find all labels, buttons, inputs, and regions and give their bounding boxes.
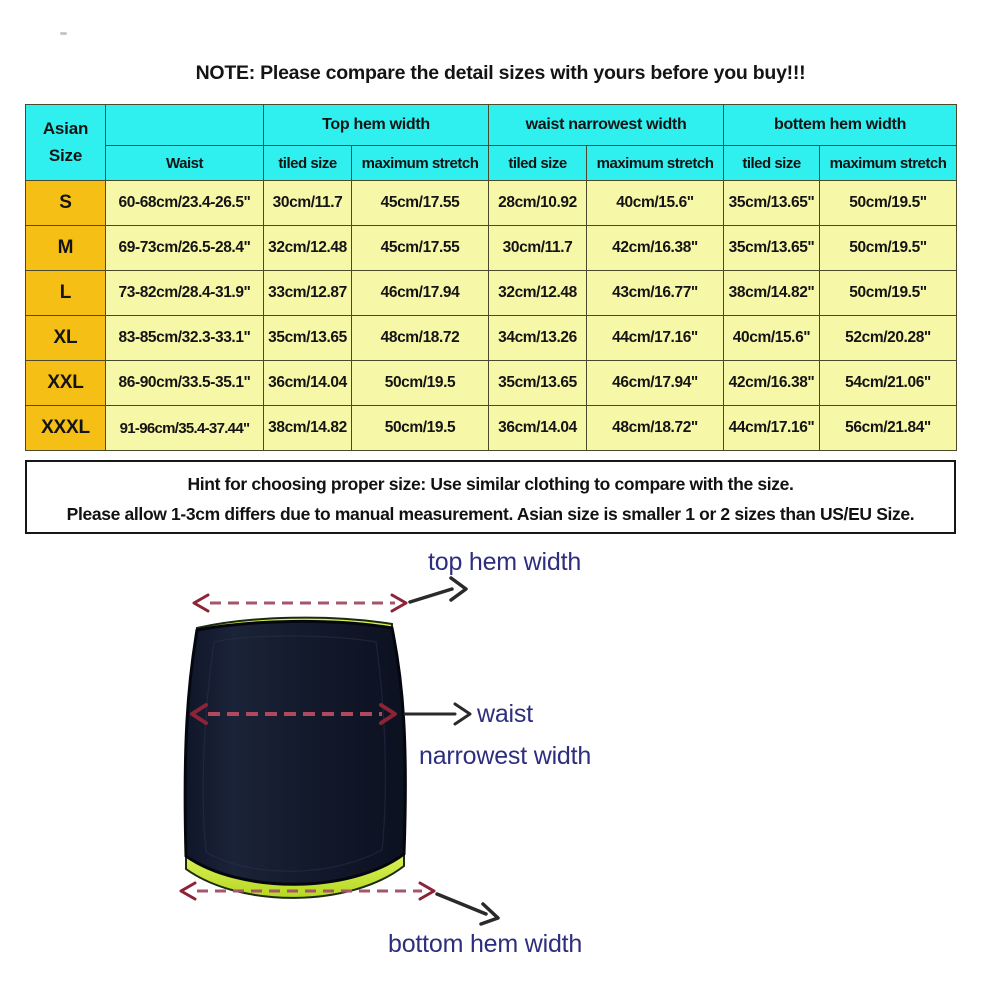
table-header-group-row: Asian Size Top hem width waist narrowest… (26, 105, 957, 146)
cell-bottom-stretch: 54cm/21.06" (820, 361, 957, 406)
cell-bottom-stretch: 50cm/19.5" (820, 226, 957, 271)
row-size-label: XXXL (26, 406, 106, 451)
cell-bottom-stretch: 56cm/21.84" (820, 406, 957, 451)
bottom-hem-right-arrowhead (420, 883, 434, 899)
cell-top-tiled: 38cm/14.82 (264, 406, 352, 451)
garment-body (185, 621, 405, 884)
bottom-hem-leader (437, 894, 498, 924)
cell-waist-stretch: 44cm/17.16" (587, 316, 724, 361)
label-top-hem-width: top hem width (428, 548, 581, 577)
cell-bottom-stretch: 50cm/19.5" (820, 271, 957, 316)
header-sub-waist-tiled-size: tiled size (489, 146, 587, 181)
table-row: XXL 86-90cm/33.5-35.1" 36cm/14.04 50cm/1… (26, 361, 957, 406)
row-size-label: S (26, 181, 106, 226)
cell-bottom-tiled: 35cm/13.65" (724, 181, 820, 226)
cell-waist-tiled: 35cm/13.65 (489, 361, 587, 406)
table-row: L 73-82cm/28.4-31.9" 33cm/12.87 46cm/17.… (26, 271, 957, 316)
table-row: XXXL 91-96cm/35.4-37.44" 38cm/14.82 50cm… (26, 406, 957, 451)
table-row: S 60-68cm/23.4-26.5" 30cm/11.7 45cm/17.5… (26, 181, 957, 226)
size-chart-table: Asian Size Top hem width waist narrowest… (25, 104, 957, 451)
header-group-top-hem-width: Top hem width (264, 105, 489, 146)
cell-waist-tiled: 36cm/14.04 (489, 406, 587, 451)
waist-leader (405, 704, 470, 724)
cell-top-tiled: 32cm/12.48 (264, 226, 352, 271)
cell-waist: 91-96cm/35.4-37.44" (106, 406, 264, 451)
cell-waist: 73-82cm/28.4-31.9" (106, 271, 264, 316)
cell-bottom-tiled: 38cm/14.82" (724, 271, 820, 316)
cell-waist: 69-73cm/26.5-28.4" (106, 226, 264, 271)
cell-bottom-tiled: 44cm/17.16" (724, 406, 820, 451)
cell-bottom-tiled: 42cm/16.38" (724, 361, 820, 406)
header-asian-size: Asian Size (26, 105, 106, 181)
header-group-blank (106, 105, 264, 146)
cell-top-stretch: 48cm/18.72 (352, 316, 489, 361)
cell-waist-tiled: 34cm/13.26 (489, 316, 587, 361)
header-sub-bottom-tiled-size: tiled size (724, 146, 820, 181)
header-group-waist-narrowest-width: waist narrowest width (489, 105, 724, 146)
cell-waist: 86-90cm/33.5-35.1" (106, 361, 264, 406)
row-size-label: M (26, 226, 106, 271)
bottom-hem-left-arrowhead (181, 883, 195, 899)
hint-line-2: Please allow 1-3cm differs due to manual… (27, 499, 954, 529)
cell-top-tiled: 30cm/11.7 (264, 181, 352, 226)
top-hem-left-arrowhead (194, 595, 208, 611)
cell-waist-stretch: 46cm/17.94" (587, 361, 724, 406)
cell-bottom-stretch: 52cm/20.28" (820, 316, 957, 361)
hint-box: Hint for choosing proper size: Use simil… (25, 460, 956, 534)
label-waist: waist (477, 700, 533, 729)
row-size-label: XXL (26, 361, 106, 406)
cell-top-stretch: 50cm/19.5 (352, 361, 489, 406)
cell-top-stretch: 46cm/17.94 (352, 271, 489, 316)
cell-waist-stretch: 42cm/16.38" (587, 226, 724, 271)
header-sub-bottom-maximum-stretch: maximum stretch (820, 146, 957, 181)
cell-top-tiled: 33cm/12.87 (264, 271, 352, 316)
cell-top-stretch: 45cm/17.55 (352, 181, 489, 226)
cell-top-stretch: 50cm/19.5 (352, 406, 489, 451)
cell-top-stretch: 45cm/17.55 (352, 226, 489, 271)
cell-waist-stretch: 40cm/15.6" (587, 181, 724, 226)
cell-waist: 60-68cm/23.4-26.5" (106, 181, 264, 226)
cell-waist-stretch: 43cm/16.77" (587, 271, 724, 316)
note-text: NOTE: Please compare the detail sizes wi… (0, 62, 1001, 85)
table-row: XL 83-85cm/32.3-33.1" 35cm/13.65 48cm/18… (26, 316, 957, 361)
label-waist-narrowest-width: narrowest width (419, 742, 591, 771)
header-sub-waist: Waist (106, 146, 264, 181)
cell-waist-tiled: 30cm/11.7 (489, 226, 587, 271)
header-asian-size-line2: Size (49, 146, 82, 165)
cell-waist-tiled: 28cm/10.92 (489, 181, 587, 226)
hint-line-1: Hint for choosing proper size: Use simil… (27, 469, 954, 499)
row-size-label: L (26, 271, 106, 316)
bottom-hem-leader-line (437, 894, 486, 914)
top-hem-leader (410, 578, 466, 602)
header-group-bottem-hem-width: bottem hem width (724, 105, 957, 146)
row-size-label: XL (26, 316, 106, 361)
label-bottom-hem-width: bottom hem width (388, 930, 582, 959)
table-row: M 69-73cm/26.5-28.4" 32cm/12.48 45cm/17.… (26, 226, 957, 271)
top-hem-measure-arrow (194, 595, 406, 611)
header-sub-top-maximum-stretch: maximum stretch (352, 146, 489, 181)
cell-bottom-stretch: 50cm/19.5" (820, 181, 957, 226)
cell-waist-tiled: 32cm/12.48 (489, 271, 587, 316)
cell-top-tiled: 35cm/13.65 (264, 316, 352, 361)
header-sub-top-tiled-size: tiled size (264, 146, 352, 181)
header-sub-waist-maximum-stretch: maximum stretch (587, 146, 724, 181)
waist-leader-arrowhead (455, 704, 470, 724)
cell-waist-stretch: 48cm/18.72" (587, 406, 724, 451)
cell-bottom-tiled: 40cm/15.6" (724, 316, 820, 361)
cell-waist: 83-85cm/32.3-33.1" (106, 316, 264, 361)
scan-artifact-speck (60, 32, 67, 35)
cell-bottom-tiled: 35cm/13.65" (724, 226, 820, 271)
top-hem-leader-line (410, 589, 452, 602)
cell-top-tiled: 36cm/14.04 (264, 361, 352, 406)
table-header-sub-row: Waist tiled size maximum stretch tiled s… (26, 146, 957, 181)
header-asian-size-line1: Asian (43, 119, 88, 138)
